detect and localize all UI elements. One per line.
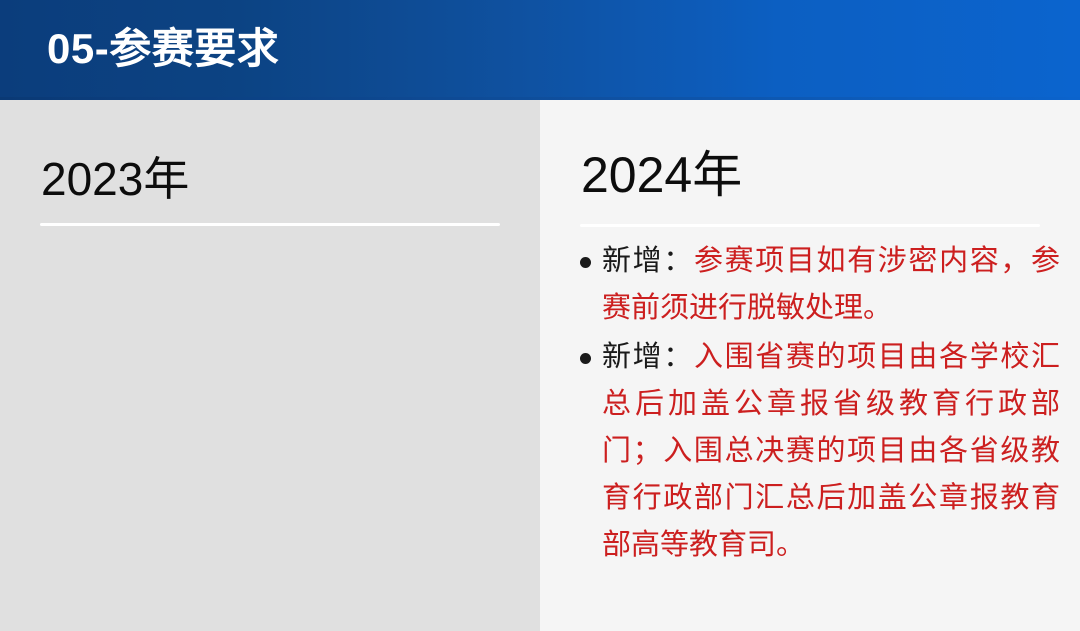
bullet-circle-icon <box>580 353 602 364</box>
bullet-circle-icon <box>580 257 602 268</box>
slide-root: 05-参赛要求 2023年 2024年 新增：参赛项目如有涉密内容，参赛前须进行… <box>0 0 1080 631</box>
list-item: 新增：参赛项目如有涉密内容，参赛前须进行脱敏处理。 <box>580 238 1060 332</box>
list-item: 新增：入围省赛的项目由各学校汇总后加盖公章报省级教育行政部门；入围总决赛的项目由… <box>580 334 1060 569</box>
list-item-text: 新增：参赛项目如有涉密内容，参赛前须进行脱敏处理。 <box>602 238 1060 332</box>
column-heading-2024: 2024年 <box>581 146 742 204</box>
comparison-body: 2023年 2024年 新增：参赛项目如有涉密内容，参赛前须进行脱敏处理。 <box>0 100 1080 631</box>
list-item-body: 入围省赛的项目由各学校汇总后加盖公章报省级教育行政部门；入围总决赛的项目由各省级… <box>602 341 1060 561</box>
list-item-text: 新增：入围省赛的项目由各学校汇总后加盖公章报省级教育行政部门；入围总决赛的项目由… <box>602 334 1060 569</box>
header-banner: 05-参赛要求 <box>0 0 1080 100</box>
column-divider-2024 <box>580 224 1040 227</box>
column-heading-2023: 2023年 <box>41 152 189 206</box>
column-year-2023: 2023年 <box>0 100 540 631</box>
page-title: 05-参赛要求 <box>47 21 279 77</box>
bullet-list-2024: 新增：参赛项目如有涉密内容，参赛前须进行脱敏处理。 新增：入围省赛的项目由各学校… <box>580 238 1060 571</box>
list-item-label: 新增： <box>602 245 694 277</box>
list-item-label: 新增： <box>602 341 694 373</box>
column-year-2024: 2024年 新增：参赛项目如有涉密内容，参赛前须进行脱敏处理。 <box>540 100 1080 631</box>
column-divider-2023 <box>40 223 500 226</box>
